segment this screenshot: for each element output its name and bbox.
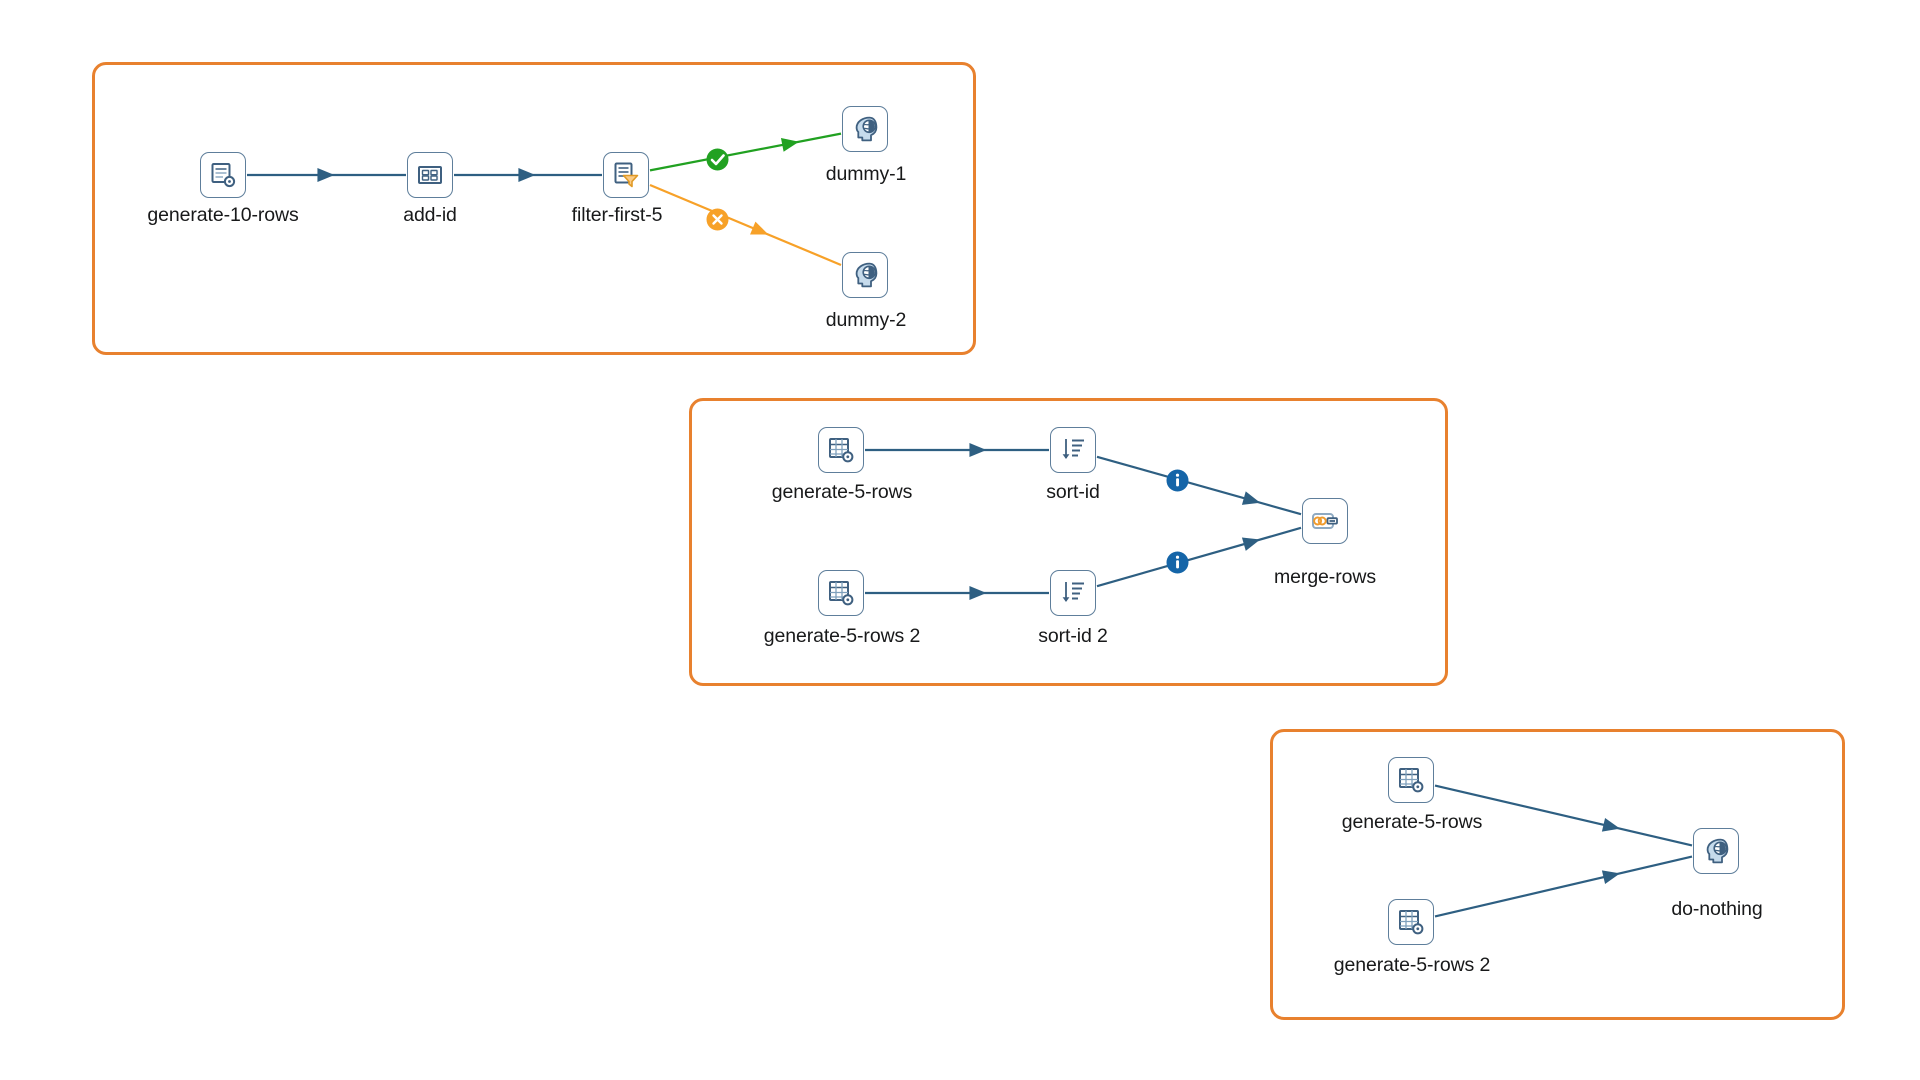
node-label-n6: generate-5-rows [772, 481, 913, 504]
generate-rows-icon [208, 160, 238, 190]
edge-status-badge-info-icon[interactable] [1166, 469, 1189, 492]
node-label-n10: merge-rows [1274, 566, 1376, 589]
add-id-icon [415, 160, 445, 190]
generate-table-icon [826, 578, 856, 608]
node-n12[interactable] [1388, 899, 1434, 945]
node-n6[interactable] [818, 427, 864, 473]
generate-table-icon [826, 435, 856, 465]
edge-status-badge-info-icon[interactable] [1166, 551, 1189, 574]
generate-table-icon [1396, 907, 1426, 937]
brain-head-icon [850, 114, 880, 144]
node-n8[interactable] [818, 570, 864, 616]
brain-head-icon [1701, 836, 1731, 866]
node-label-n7: sort-id [1046, 481, 1099, 504]
node-n2[interactable] [407, 152, 453, 198]
sort-desc-icon [1058, 435, 1088, 465]
edge-status-badge-error-icon[interactable] [706, 208, 729, 231]
sort-desc-icon [1058, 578, 1088, 608]
node-label-n12: generate-5-rows 2 [1334, 954, 1491, 977]
generate-table-icon [1396, 765, 1426, 795]
node-n10[interactable] [1302, 498, 1348, 544]
merge-rows-icon [1310, 506, 1340, 536]
node-label-n3: filter-first-5 [572, 204, 663, 227]
pipeline-canvas[interactable]: generate-10-rows add-id filter-first-5 [0, 0, 1920, 1080]
node-n13[interactable] [1693, 828, 1739, 874]
node-label-n4: dummy-1 [826, 163, 907, 186]
node-label-n2: add-id [403, 204, 457, 227]
node-n4[interactable] [842, 106, 888, 152]
node-label-n1: generate-10-rows [147, 204, 298, 227]
node-n7[interactable] [1050, 427, 1096, 473]
brain-head-icon [850, 260, 880, 290]
node-label-n8: generate-5-rows 2 [764, 625, 921, 648]
node-label-n5: dummy-2 [826, 309, 907, 332]
node-label-n13: do-nothing [1671, 898, 1762, 921]
node-n3[interactable] [603, 152, 649, 198]
node-label-n9: sort-id 2 [1038, 625, 1108, 648]
edge-status-badge-success-icon[interactable] [706, 148, 729, 171]
node-n11[interactable] [1388, 757, 1434, 803]
node-n5[interactable] [842, 252, 888, 298]
node-n1[interactable] [200, 152, 246, 198]
node-n9[interactable] [1050, 570, 1096, 616]
filter-icon [611, 160, 641, 190]
node-label-n11: generate-5-rows [1342, 811, 1483, 834]
